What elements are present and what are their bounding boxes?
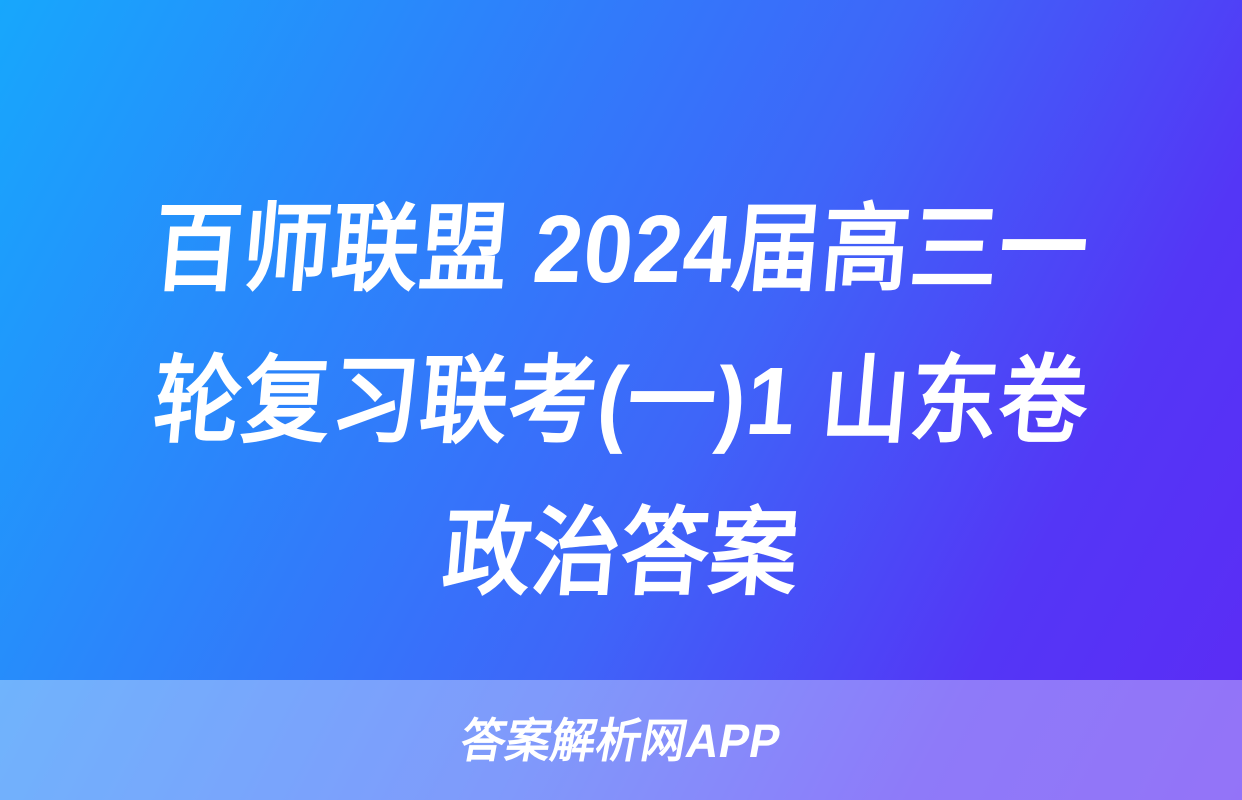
poster-canvas: 百师联盟 2024届高三一 轮复习联考(一)1 山东卷 政治答案 答案解析网AP… bbox=[0, 0, 1242, 800]
footer-watermark-band: 答案解析网APP bbox=[0, 680, 1242, 800]
title-line-3: 政治答案 bbox=[99, 478, 1143, 630]
title-line-2: 轮复习联考(一)1 山东卷 bbox=[99, 326, 1143, 478]
title-line-1: 百师联盟 2024届高三一 bbox=[99, 174, 1143, 326]
title-block: 百师联盟 2024届高三一 轮复习联考(一)1 山东卷 政治答案 bbox=[0, 176, 1242, 628]
app-watermark-label: 答案解析网APP bbox=[457, 717, 785, 764]
